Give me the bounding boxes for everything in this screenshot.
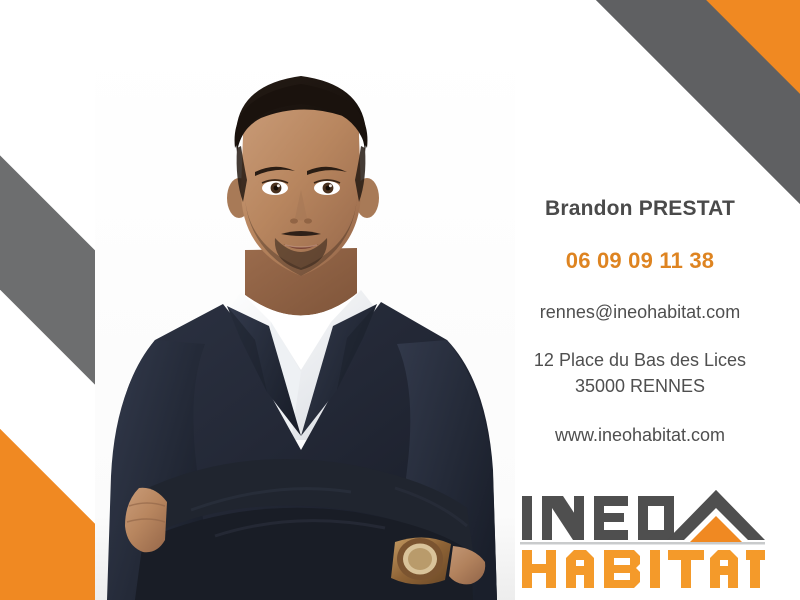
logo-wordmark-ineo xyxy=(522,496,674,540)
house-roof-chevron-icon xyxy=(667,490,765,542)
contact-address: 12 Place du Bas des Lices 35000 RENNES xyxy=(495,348,785,399)
contact-address-line2: 35000 RENNES xyxy=(495,374,785,400)
logo-divider-line xyxy=(520,542,765,545)
business-card: Brandon PRESTAT 06 09 09 11 38 rennes@in… xyxy=(0,0,800,600)
contact-email[interactable]: rennes@ineohabitat.com xyxy=(495,302,785,323)
portrait-photo xyxy=(95,40,515,600)
contact-phone[interactable]: 06 09 09 11 38 xyxy=(495,248,785,274)
logo-artwork xyxy=(520,488,765,593)
contact-details: Brandon PRESTAT 06 09 09 11 38 rennes@in… xyxy=(495,196,785,446)
contact-address-line1: 12 Place du Bas des Lices xyxy=(495,348,785,374)
contact-website[interactable]: www.ineohabitat.com xyxy=(495,425,785,446)
logo-wordmark-habitat xyxy=(522,550,765,588)
portrait-photo-image xyxy=(95,40,515,600)
decor-stripe-top-right-orange xyxy=(531,0,800,136)
wristwatch xyxy=(391,537,451,584)
contact-name: Brandon PRESTAT xyxy=(495,196,785,221)
ineo-habitat-logo[interactable] xyxy=(520,488,765,593)
